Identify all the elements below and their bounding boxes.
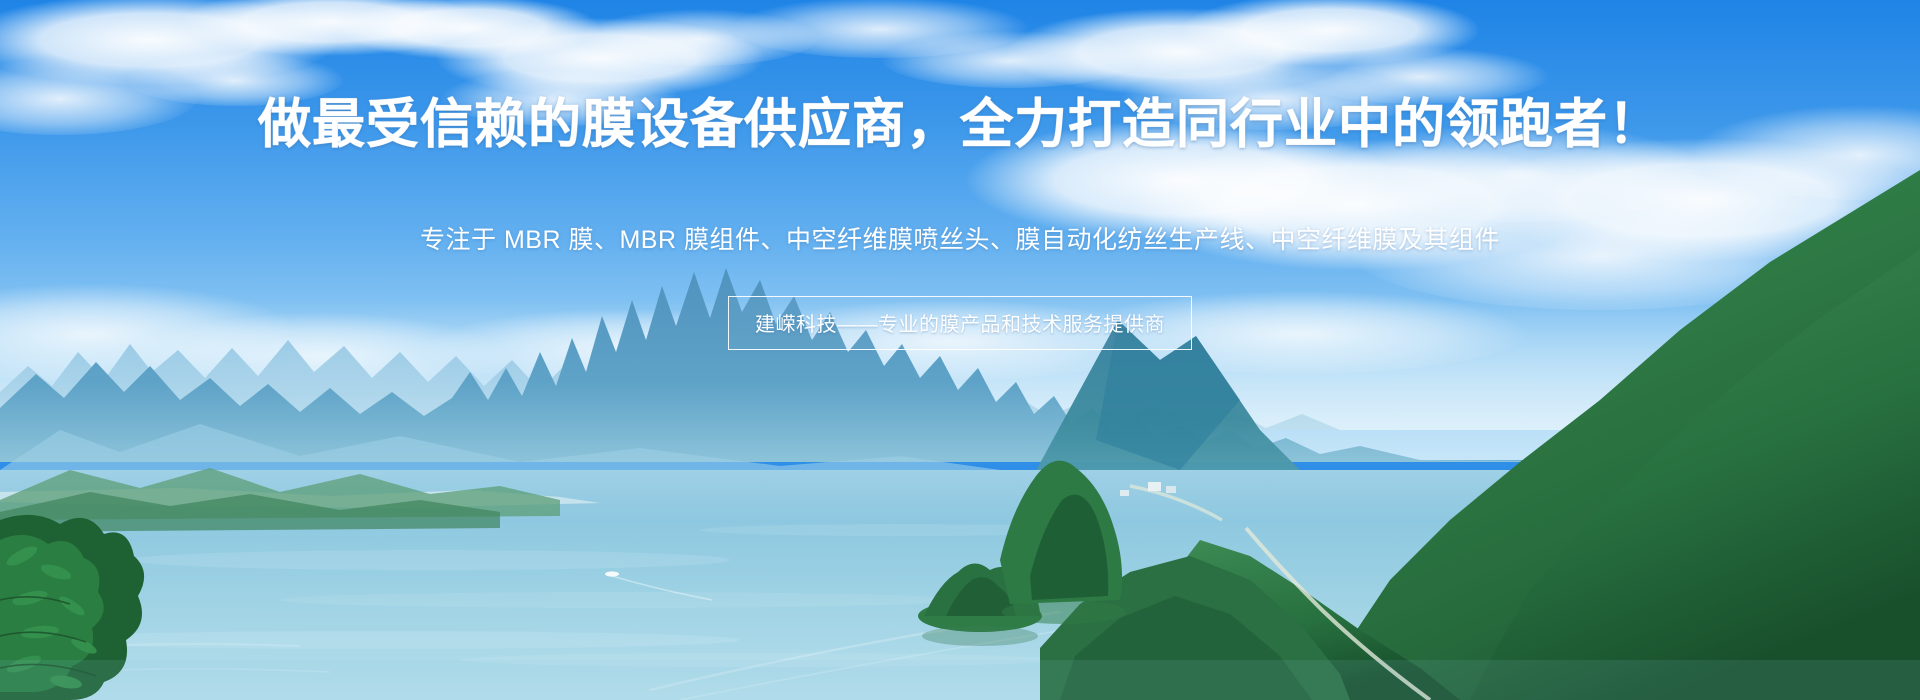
hero-banner: 做最受信赖的膜设备供应商，全力打造同行业中的领跑者！ 专注于 MBR 膜、MBR…: [0, 0, 1920, 700]
banner-headline: 做最受信赖的膜设备供应商，全力打造同行业中的领跑者！: [0, 96, 1920, 154]
banner-tagline-box: 建嵘科技——专业的膜产品和技术服务提供商: [728, 296, 1192, 350]
banner-tagline-container: 建嵘科技——专业的膜产品和技术服务提供商: [0, 296, 1920, 350]
banner-text-overlay: 做最受信赖的膜设备供应商，全力打造同行业中的领跑者！ 专注于 MBR 膜、MBR…: [0, 0, 1920, 700]
banner-subtitle: 专注于 MBR 膜、MBR 膜组件、中空纤维膜喷丝头、膜自动化纺丝生产线、中空纤…: [0, 224, 1920, 257]
